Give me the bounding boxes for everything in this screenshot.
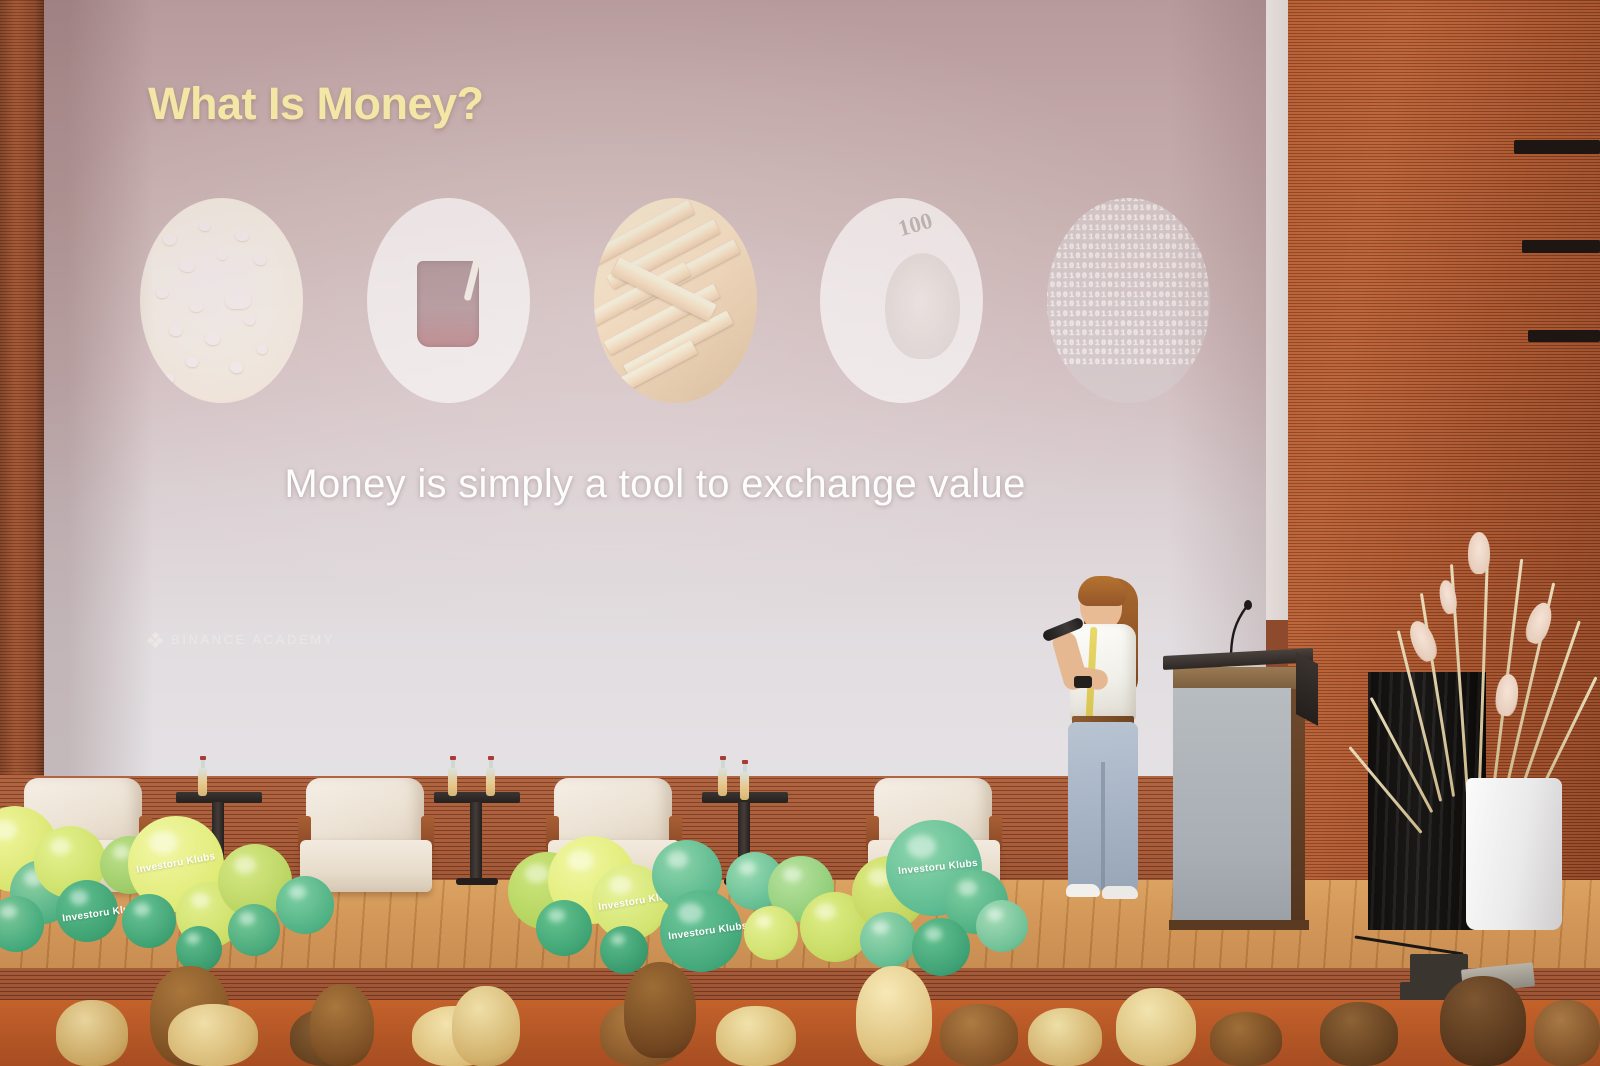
water-bottle	[448, 756, 457, 796]
audience-head	[1028, 1008, 1102, 1066]
balloon	[976, 900, 1028, 952]
slide-image-row: 100 100101101011001010011010110100101101…	[140, 190, 1210, 410]
gooseneck-microphone-icon	[1225, 600, 1255, 656]
balloon	[176, 926, 222, 972]
water-bottle	[718, 756, 727, 796]
balloon	[276, 876, 334, 934]
audience-head	[1116, 988, 1196, 1066]
armchair	[300, 778, 432, 894]
slide-logo: BINANCE ACADEMY	[148, 632, 335, 647]
audience-head	[716, 1006, 796, 1066]
vase	[1466, 778, 1562, 930]
balloon-label: Investoru Klubs	[136, 851, 217, 876]
balloon: Investoru Klubs	[660, 890, 742, 972]
ceiling-rail-1	[1514, 140, 1600, 154]
water-bottle	[198, 756, 207, 796]
balloon	[536, 900, 592, 956]
side-table	[434, 792, 520, 886]
balloon	[228, 904, 280, 956]
audience-head	[624, 962, 696, 1058]
audience-head	[1210, 1012, 1282, 1066]
audience-head	[56, 1000, 128, 1066]
audience-head	[310, 984, 374, 1066]
circle-image-shells	[140, 198, 303, 403]
slide-subtitle: Money is simply a tool to exchange value	[44, 462, 1266, 507]
ceiling-rail-2	[1522, 240, 1600, 253]
audience-head	[168, 1004, 258, 1066]
audience-head	[856, 966, 932, 1066]
audience-head	[940, 1004, 1018, 1066]
binance-diamond-icon	[148, 633, 162, 647]
ceiling-rail-3	[1528, 330, 1600, 342]
circle-image-tea	[367, 198, 530, 403]
presenter	[1040, 572, 1160, 930]
balloon	[122, 894, 176, 948]
balloon	[860, 912, 916, 968]
balloon	[912, 918, 970, 976]
circle-image-binary: 1001011010110010100110101101001011010010…	[1047, 198, 1210, 403]
slide-logo-text: BINANCE ACADEMY	[171, 632, 335, 647]
wood-wall-left	[0, 0, 46, 790]
circle-image-gold	[594, 198, 757, 403]
audience-head	[1534, 1000, 1600, 1066]
conference-stage-photo: What Is Money?	[0, 0, 1600, 1066]
water-bottle	[740, 760, 749, 800]
audience-head	[452, 986, 520, 1066]
presentation-clicker-icon	[1074, 676, 1092, 688]
audience-head	[1440, 976, 1526, 1066]
lectern	[1163, 652, 1313, 930]
audience-head	[1320, 1002, 1398, 1066]
circle-image-dollars: 100	[820, 198, 983, 403]
binary-digits: 1001011010110010100110101101001011010010…	[1047, 198, 1210, 403]
balloon	[744, 906, 798, 960]
balloon: Investoru Klubs	[56, 880, 118, 942]
water-bottle	[486, 756, 495, 796]
slide-title: What Is Money?	[148, 78, 484, 130]
balloon-label: Investoru Klubs	[668, 920, 749, 942]
